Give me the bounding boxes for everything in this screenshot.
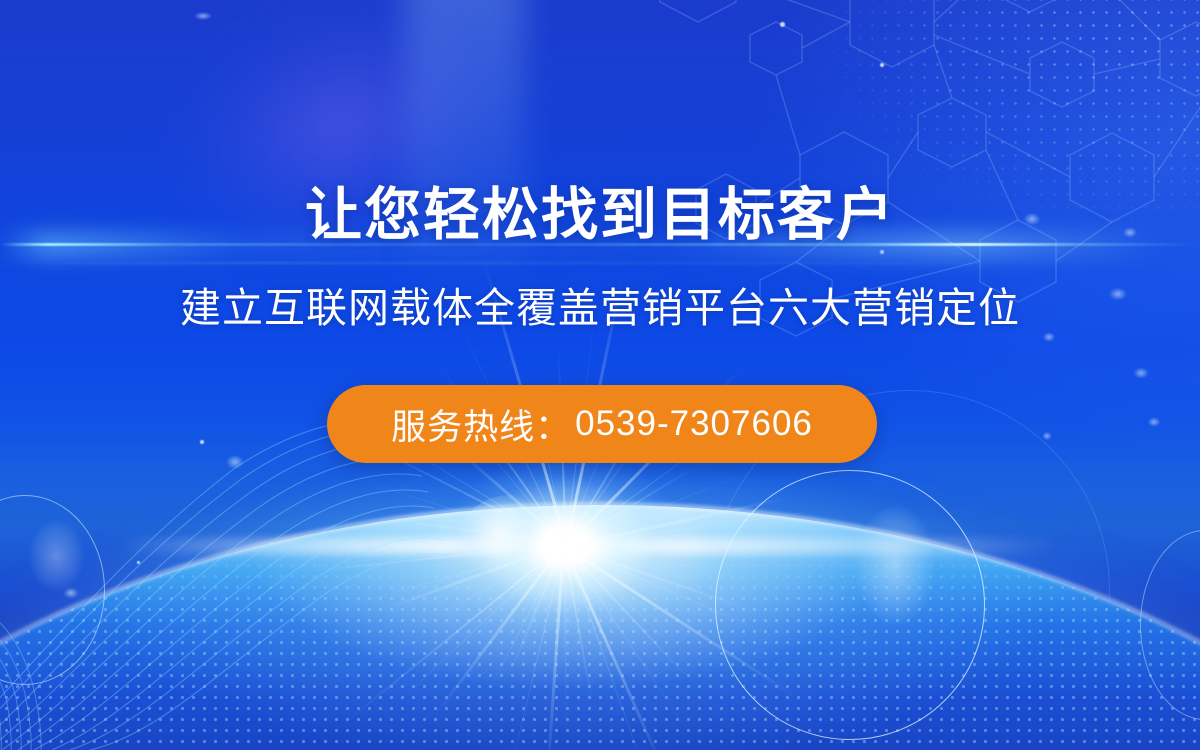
hotline-label: 服务热线： <box>391 399 571 450</box>
banner-stage: 让您轻松找到目标客户 建立互联网载体全覆盖营销平台六大营销定位 服务热线： 05… <box>0 0 1200 750</box>
hotline-phone-number: 0539-7307606 <box>575 404 813 444</box>
subtitle: 建立互联网载体全覆盖营销平台六大营销定位 <box>0 283 1200 334</box>
hotline-button[interactable]: 服务热线： 0539-7307606 <box>327 385 877 463</box>
banner-content: 让您轻松找到目标客户 建立互联网载体全覆盖营销平台六大营销定位 服务热线： 05… <box>0 0 1200 750</box>
page-title: 让您轻松找到目标客户 <box>0 183 1200 249</box>
